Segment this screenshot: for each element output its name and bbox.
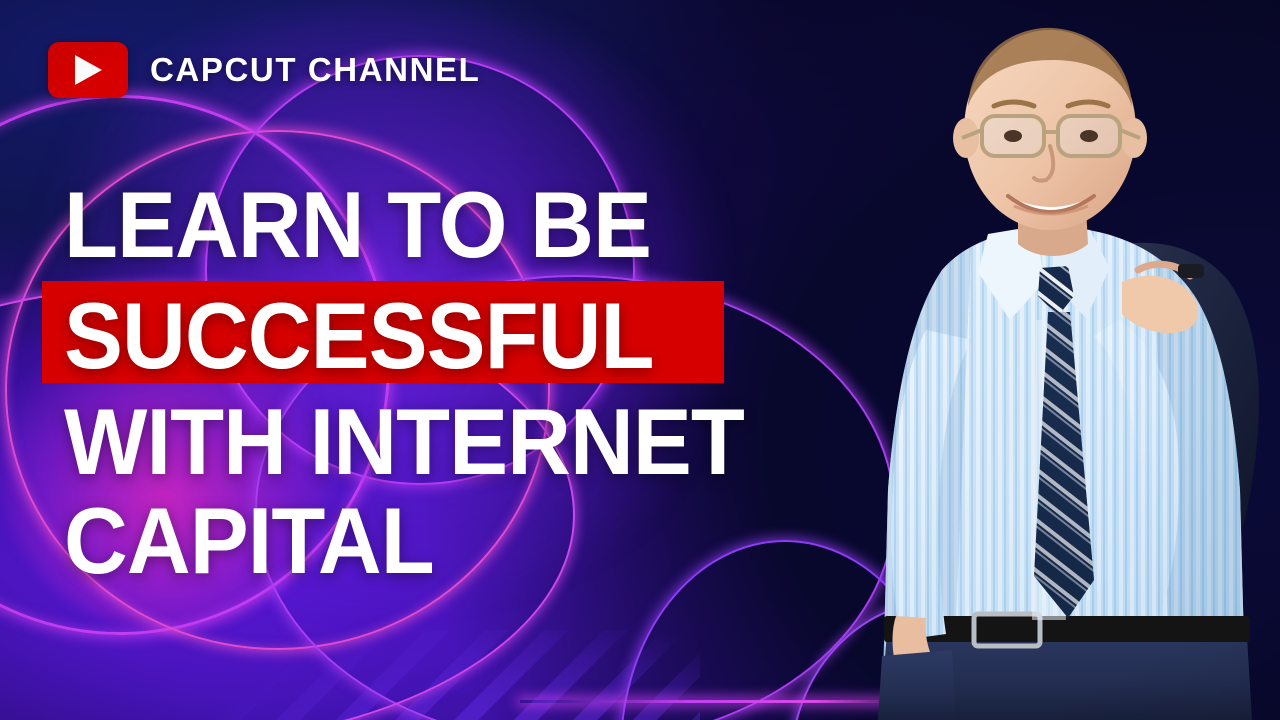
thumbnail-canvas: CAPCUT CHANNEL LEARN TO BE SUCCESSFUL WI… [0,0,1280,720]
vignette-overlay [0,0,1280,720]
